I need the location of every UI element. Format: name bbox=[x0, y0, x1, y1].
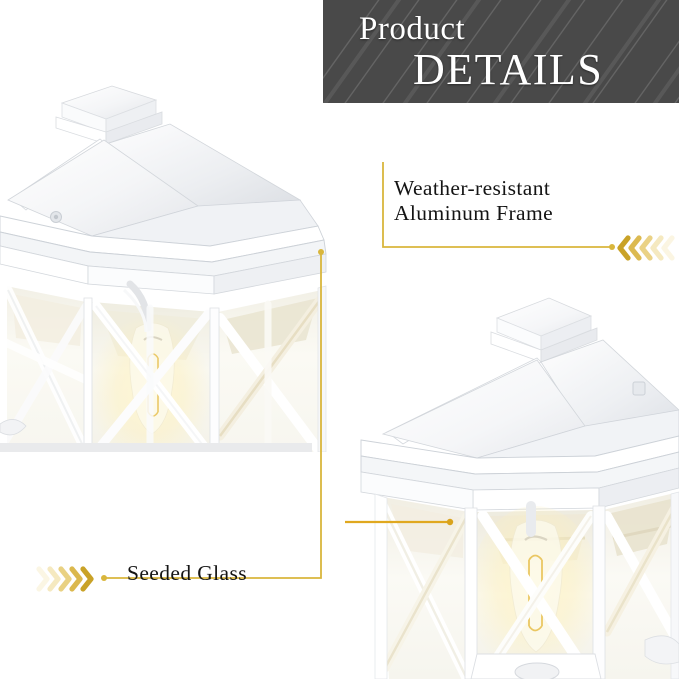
annotation-line-1: Seeded Glass bbox=[127, 561, 247, 586]
banner-title-line1: Product bbox=[359, 11, 465, 47]
annotation-line-1: Weather-resistant bbox=[394, 176, 553, 201]
chevron-left-icon bbox=[616, 234, 678, 262]
chevrons-right-seeded-glass bbox=[33, 565, 99, 593]
product-photo-top-left bbox=[0, 40, 330, 452]
product-details-banner: Product DETAILS bbox=[323, 0, 679, 103]
annotation-label-seeded-glass: Seeded Glass bbox=[127, 561, 247, 586]
product-photo-bottom-right bbox=[345, 272, 679, 679]
annotation-label-aluminum-frame: Weather-resistant Aluminum Frame bbox=[394, 176, 553, 226]
chevrons-left-aluminum-frame bbox=[616, 234, 678, 262]
infographic-canvas: Product DETAILS Weather-resistant Alumin… bbox=[0, 0, 679, 679]
annotation-line-2: Aluminum Frame bbox=[394, 201, 553, 226]
chevron-right-icon bbox=[33, 565, 99, 593]
banner-title-line2: DETAILS bbox=[413, 47, 603, 93]
